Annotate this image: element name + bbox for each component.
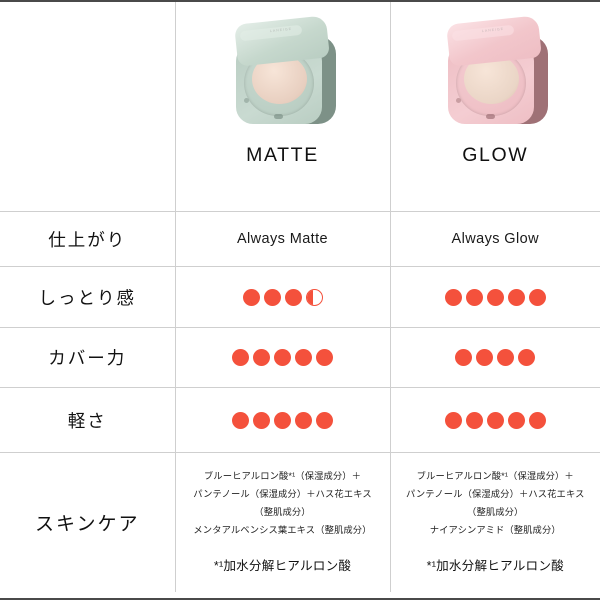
coverage-rating-matte bbox=[175, 328, 390, 388]
product-image-matte: LANEIGE bbox=[222, 16, 344, 134]
rating-dot-full bbox=[295, 412, 312, 429]
rating-dot-full bbox=[274, 412, 291, 429]
row-label-coverage: カバー力 bbox=[0, 328, 175, 388]
rating-dot-full bbox=[487, 412, 504, 429]
rating-dot-full bbox=[232, 349, 249, 366]
rating-dot-full bbox=[295, 349, 312, 366]
product-cell-glow[interactable]: LANEIGE GLOW bbox=[390, 2, 600, 212]
rating-dot-full bbox=[232, 412, 249, 429]
rating-dot-full bbox=[316, 349, 333, 366]
product-name-glow: GLOW bbox=[462, 144, 528, 167]
ingredient-line: ナイアシンアミド（整肌成分） bbox=[430, 522, 561, 539]
finish-value-glow: Always Glow bbox=[390, 212, 600, 267]
rating-dot-full bbox=[243, 289, 260, 306]
product-header-row: LANEIGE MATTE bbox=[0, 2, 600, 212]
rating-dot-full bbox=[253, 412, 270, 429]
lightness-rating-glow bbox=[390, 388, 600, 453]
rating-dot-full bbox=[264, 289, 281, 306]
rating-dot-full bbox=[529, 289, 546, 306]
rating-dot-full bbox=[508, 289, 525, 306]
rating-dot-full bbox=[529, 412, 546, 429]
rating-dots bbox=[391, 412, 600, 429]
rating-dot-full bbox=[285, 289, 302, 306]
ingredient-line: パンテノール（保湿成分）＋ハス花エキス bbox=[406, 486, 584, 503]
product-comparison-table: LANEIGE MATTE bbox=[0, 2, 600, 592]
rating-dot-full bbox=[274, 349, 291, 366]
rating-dots bbox=[391, 349, 600, 366]
product-image-glow: LANEIGE bbox=[434, 16, 556, 134]
rating-dot-full bbox=[497, 349, 514, 366]
row-label-moisture: しっとり感 bbox=[0, 267, 175, 328]
rating-dot-full bbox=[466, 289, 483, 306]
coverage-rating-glow bbox=[390, 328, 600, 388]
skincare-ingredients-glow: ブルーヒアルロン酸*¹（保湿成分）＋パンテノール（保湿成分）＋ハス花エキス（整肌… bbox=[390, 453, 600, 592]
table-row-skincare: スキンケア ブルーヒアルロン酸*¹（保湿成分）＋パンテノール（保湿成分）＋ハス花… bbox=[0, 453, 600, 592]
rating-dot-full bbox=[316, 412, 333, 429]
rating-dot-half bbox=[306, 289, 323, 306]
lightness-rating-matte bbox=[175, 388, 390, 453]
compact-latch-glow bbox=[486, 114, 495, 119]
rating-dot-full bbox=[476, 349, 493, 366]
rating-dot-full bbox=[487, 289, 504, 306]
rating-dots bbox=[391, 289, 600, 306]
finish-value-matte: Always Matte bbox=[175, 212, 390, 267]
rating-dots bbox=[176, 289, 390, 306]
rating-dot-full bbox=[508, 412, 525, 429]
compact-notch-matte bbox=[244, 98, 249, 103]
header-empty-cell bbox=[0, 2, 175, 212]
rating-dot-full bbox=[455, 349, 472, 366]
product-cell-matte[interactable]: LANEIGE MATTE bbox=[175, 2, 390, 212]
ingredient-list: ブルーヒアルロン酸*¹（保湿成分）＋パンテノール（保湿成分）＋ハス花エキス（整肌… bbox=[184, 468, 382, 539]
table-row-coverage: カバー力 bbox=[0, 328, 600, 388]
comparison-page: LANEIGE MATTE bbox=[0, 0, 600, 600]
row-label-skincare: スキンケア bbox=[0, 453, 175, 592]
ingredient-line: （整肌成分） bbox=[254, 504, 310, 521]
product-name-matte: MATTE bbox=[246, 144, 319, 167]
rating-dot-full bbox=[466, 412, 483, 429]
ingredient-list: ブルーヒアルロン酸*¹（保湿成分）＋パンテノール（保湿成分）＋ハス花エキス（整肌… bbox=[399, 468, 593, 539]
row-label-lightness: 軽さ bbox=[0, 388, 175, 453]
rating-dot-full bbox=[518, 349, 535, 366]
rating-dot-full bbox=[253, 349, 270, 366]
ingredient-line: ブルーヒアルロン酸*¹（保湿成分）＋ bbox=[417, 468, 574, 485]
ingredient-footnote: *¹加水分解ヒアルロン酸 bbox=[184, 557, 382, 575]
rating-dots bbox=[176, 412, 390, 429]
compact-latch-matte bbox=[274, 114, 283, 119]
row-label-finish: 仕上がり bbox=[0, 212, 175, 267]
moisture-rating-glow bbox=[390, 267, 600, 328]
skincare-ingredients-matte: ブルーヒアルロン酸*¹（保湿成分）＋パンテノール（保湿成分）＋ハス花エキス（整肌… bbox=[175, 453, 390, 592]
table-row-finish: 仕上がり Always Matte Always Glow bbox=[0, 212, 600, 267]
moisture-rating-matte bbox=[175, 267, 390, 328]
ingredient-footnote: *¹加水分解ヒアルロン酸 bbox=[399, 557, 593, 575]
rating-dot-full bbox=[445, 412, 462, 429]
ingredient-line: （整肌成分） bbox=[467, 504, 523, 521]
rating-dot-full bbox=[445, 289, 462, 306]
table-row-lightness: 軽さ bbox=[0, 388, 600, 453]
table-row-moisture: しっとり感 bbox=[0, 267, 600, 328]
ingredient-line: メンタアルベンシス葉エキス（整肌成分） bbox=[193, 522, 371, 539]
rating-dots bbox=[176, 349, 390, 366]
ingredient-line: パンテノール（保湿成分）＋ハス花エキス bbox=[193, 486, 371, 503]
ingredient-line: ブルーヒアルロン酸*¹（保湿成分）＋ bbox=[204, 468, 361, 485]
